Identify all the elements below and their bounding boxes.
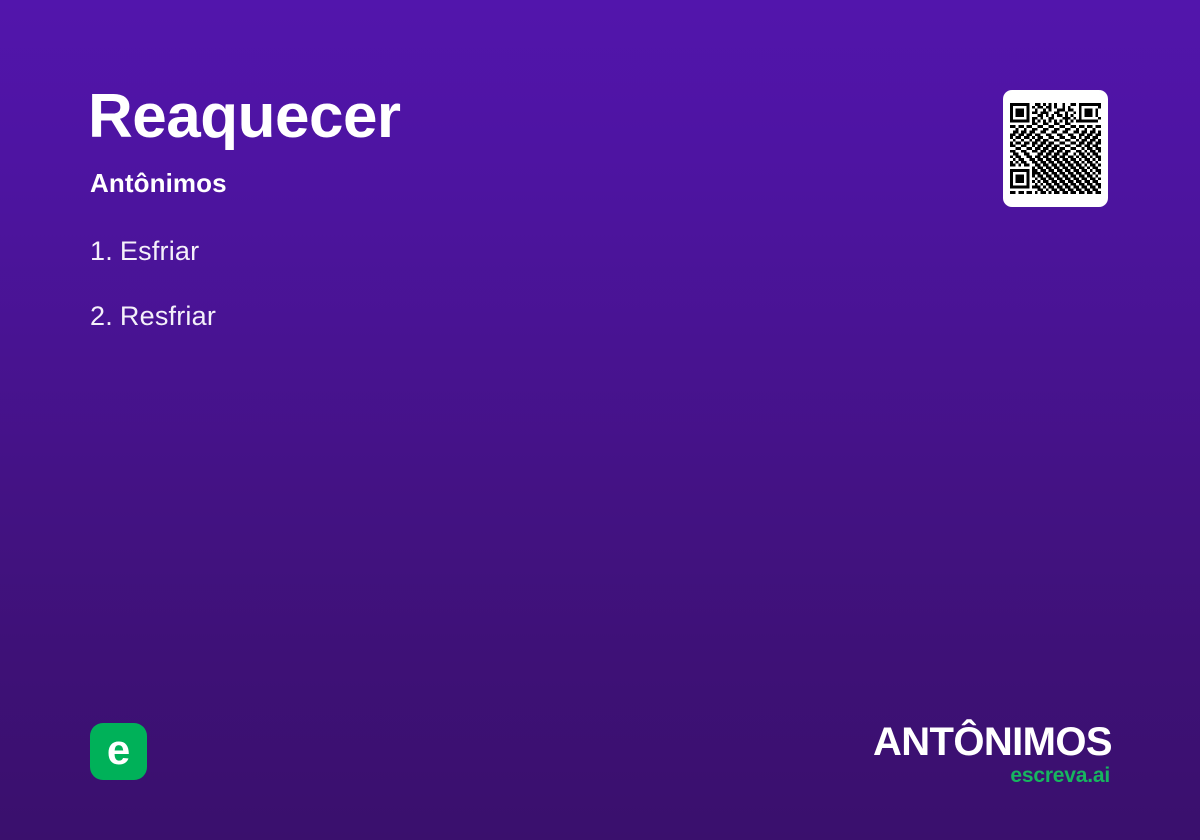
list-item-index: 2.: [90, 301, 113, 331]
page-title: Reaquecer: [88, 84, 401, 149]
brand-title: ANTÔNIMOS: [873, 722, 1112, 762]
list-item: 1.Esfriar: [90, 238, 216, 265]
list-item-index: 1.: [90, 236, 113, 266]
brand-lockup: ANTÔNIMOS escreva.ai: [873, 722, 1112, 786]
qr-code-icon: [1010, 103, 1101, 194]
antonym-list: 1.Esfriar 2.Resfriar: [90, 238, 216, 368]
category-label: Antônimos: [90, 168, 227, 199]
app-logo-letter: e: [107, 729, 130, 771]
list-item: 2.Resfriar: [90, 303, 216, 330]
brand-domain: escreva.ai: [873, 765, 1110, 786]
list-item-term: Resfriar: [120, 301, 216, 331]
qr-code-card[interactable]: [1003, 90, 1108, 207]
list-item-term: Esfriar: [120, 236, 199, 266]
app-logo-mark: e: [90, 723, 147, 780]
